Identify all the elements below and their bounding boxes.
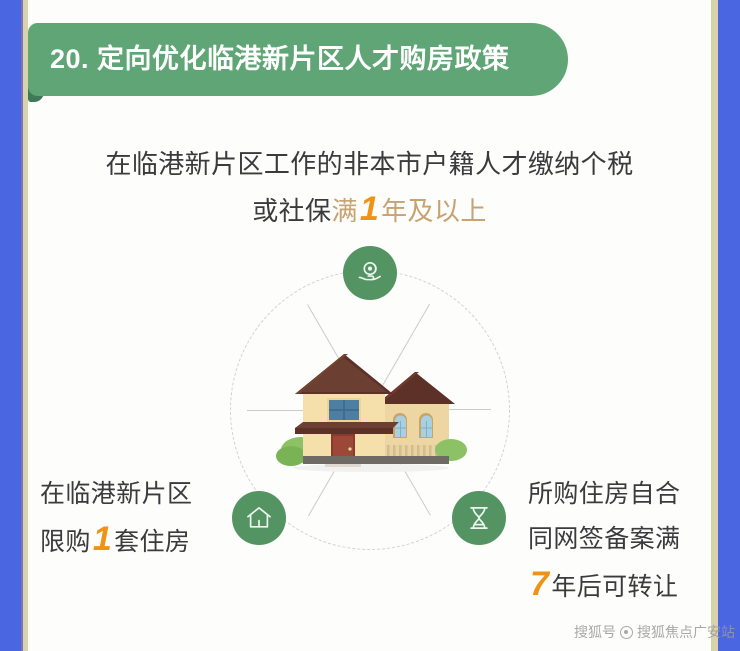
headline-block: 在临港新片区工作的非本市户籍人才缴纳个税 或社保满1年及以上 (28, 142, 711, 234)
title-banner: 20. 定向优化临港新片区人才购房政策 (28, 23, 568, 96)
caption-left: 在临港新片区 限购1套住房 (40, 472, 192, 565)
right-blue-edge-strip (718, 0, 740, 651)
caption-right: 所购住房自合 同网签备案满 7年后可转让 (528, 472, 680, 610)
caption-right-line-2: 同网签备案满 (528, 517, 680, 562)
house-icon (244, 503, 274, 533)
headline-line-1: 在临港新片区工作的非本市户籍人才缴纳个税 (28, 142, 711, 187)
caption-right-line-3: 7年后可转让 (528, 562, 680, 610)
caption-left-line-1: 在临港新片区 (40, 472, 192, 517)
right-tan-edge-strip (711, 0, 718, 651)
caption-right-line-1: 所购住房自合 (528, 472, 680, 517)
circular-diagram (218, 258, 522, 562)
at-sign-icon (620, 626, 633, 639)
page-title: 20. 定向优化临港新片区人才购房政策 (28, 46, 510, 73)
infographic-page: 20. 定向优化临港新片区人才购房政策 在临港新片区工作的非本市户籍人才缴纳个税… (0, 0, 740, 651)
watermark-suffix: 搜狐焦点广安站 (637, 622, 735, 642)
watermark-prefix: 搜狐号 (574, 622, 616, 642)
node-hand-holding-coin[interactable] (343, 246, 397, 300)
caption-left-suffix: 套住房 (114, 528, 190, 556)
watermark: 搜狐号 搜狐焦点广安站 (574, 622, 735, 642)
headline-line-2: 或社保满1年及以上 (28, 187, 711, 234)
headline-gold-before: 满 (331, 196, 357, 226)
left-blue-edge-strip (0, 0, 21, 651)
house-illustration (273, 342, 469, 474)
caption-right-accent-number: 7 (528, 565, 551, 603)
node-hourglass[interactable] (452, 491, 506, 545)
caption-left-line-2: 限购1套住房 (40, 517, 192, 565)
headline-line-2-prefix: 或社保 (252, 196, 331, 226)
caption-right-suffix: 年后可转让 (551, 573, 678, 601)
hourglass-icon (464, 503, 494, 533)
banner-body: 20. 定向优化临港新片区人才购房政策 (28, 23, 568, 96)
node-house[interactable] (232, 491, 286, 545)
caption-left-prefix: 限购 (40, 528, 91, 556)
caption-left-accent-number: 1 (91, 520, 114, 558)
hand-holding-coin-icon (355, 258, 385, 288)
headline-accent-number: 1 (358, 190, 381, 228)
headline-gold-after: 年及以上 (381, 196, 487, 226)
